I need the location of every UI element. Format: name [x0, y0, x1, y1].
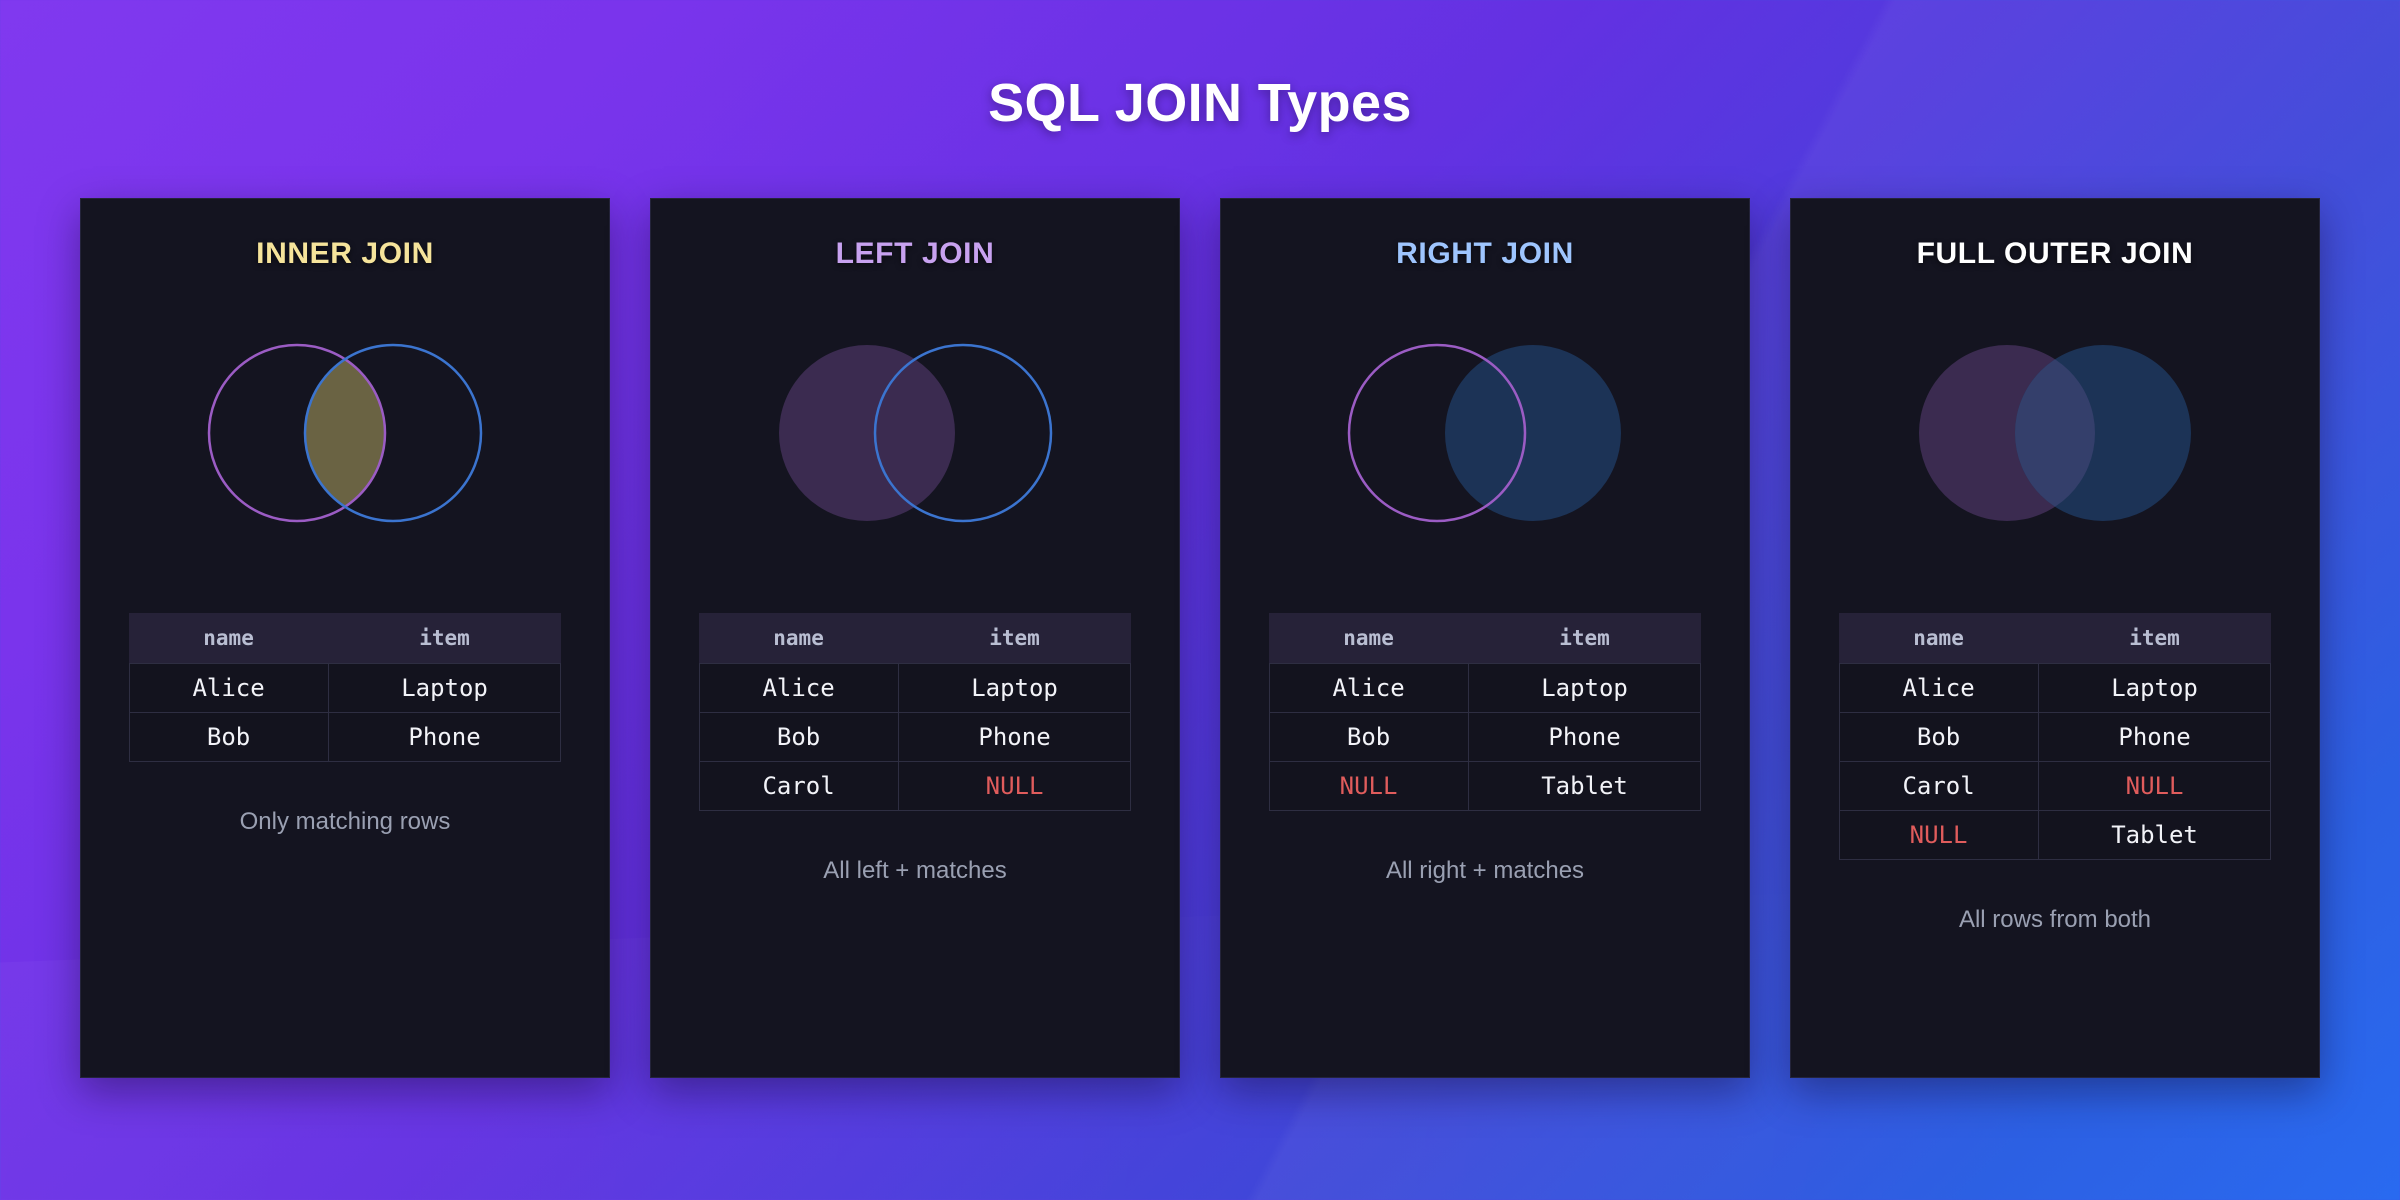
cell-item: Laptop: [898, 664, 1131, 713]
cell-name: NULL: [1269, 762, 1468, 811]
card-title-right-join: RIGHT JOIN: [1396, 237, 1574, 271]
cell-item: Phone: [1468, 713, 1701, 762]
table-row: AliceLaptop: [1839, 664, 2271, 713]
cell-item: Phone: [898, 713, 1131, 762]
column-header-name: name: [1269, 613, 1468, 664]
result-table-full-outer-join: nameitemAliceLaptopBobPhoneCarolNULLNULL…: [1839, 613, 2272, 860]
cell-name: Carol: [1839, 762, 2038, 811]
table-row: CarolNULL: [1839, 762, 2271, 811]
cell-item: Phone: [2038, 713, 2271, 762]
card-title-inner-join: INNER JOIN: [256, 237, 434, 271]
column-header-name: name: [699, 613, 898, 664]
venn-diagram-inner-join: [175, 317, 515, 549]
column-header-item: item: [898, 613, 1131, 664]
table-header-row: nameitem: [699, 613, 1131, 664]
table-row: BobPhone: [129, 713, 561, 762]
cell-item: NULL: [898, 762, 1131, 811]
cell-item: Tablet: [2038, 811, 2271, 860]
join-card-grid: INNER JOINnameitemAliceLaptopBobPhoneOnl…: [80, 198, 2320, 1078]
cell-item: Laptop: [328, 664, 561, 713]
card-caption-full-outer-join: All rows from both: [1959, 906, 2151, 934]
venn-left-circle-fill: [779, 345, 955, 521]
card-caption-right-join: All right + matches: [1386, 857, 1584, 885]
cell-item: Tablet: [1468, 762, 1701, 811]
table-row: NULLTablet: [1269, 762, 1701, 811]
table-row: CarolNULL: [699, 762, 1131, 811]
table-row: BobPhone: [699, 713, 1131, 762]
table-header-row: nameitem: [1839, 613, 2271, 664]
cell-name: Alice: [699, 664, 898, 713]
join-card-full-outer-join: FULL OUTER JOINnameitemAliceLaptopBobPho…: [1790, 198, 2320, 1078]
result-table-inner-join: nameitemAliceLaptopBobPhone: [129, 613, 562, 762]
result-table-wrap-inner-join: nameitemAliceLaptopBobPhone: [129, 613, 562, 762]
table-row: BobPhone: [1269, 713, 1701, 762]
cell-name: Alice: [129, 664, 328, 713]
cell-name: Bob: [1839, 713, 2038, 762]
cell-item: Phone: [328, 713, 561, 762]
cell-name: Alice: [1269, 664, 1468, 713]
column-header-name: name: [129, 613, 328, 664]
cell-item: NULL: [2038, 762, 2271, 811]
result-table-left-join: nameitemAliceLaptopBobPhoneCarolNULL: [699, 613, 1132, 811]
join-card-right-join: RIGHT JOINnameitemAliceLaptopBobPhoneNUL…: [1220, 198, 1750, 1078]
table-row: BobPhone: [1839, 713, 2271, 762]
cell-name: Carol: [699, 762, 898, 811]
table-row: AliceLaptop: [1269, 664, 1701, 713]
venn-diagram-left-join: [745, 317, 1085, 549]
venn-diagram-right-join: [1315, 317, 1655, 549]
table-row: NULLTablet: [1839, 811, 2271, 860]
cell-name: Bob: [129, 713, 328, 762]
venn-right-circle-fill: [1445, 345, 1621, 521]
page-title: SQL JOIN Types: [0, 72, 2400, 134]
column-header-item: item: [2038, 613, 2271, 664]
cell-item: Laptop: [1468, 664, 1701, 713]
card-title-left-join: LEFT JOIN: [836, 237, 995, 271]
result-table-wrap-full-outer-join: nameitemAliceLaptopBobPhoneCarolNULLNULL…: [1839, 613, 2272, 860]
cell-item: Laptop: [2038, 664, 2271, 713]
cell-name: Alice: [1839, 664, 2038, 713]
result-table-wrap-left-join: nameitemAliceLaptopBobPhoneCarolNULL: [699, 613, 1132, 811]
table-row: AliceLaptop: [699, 664, 1131, 713]
card-caption-left-join: All left + matches: [823, 857, 1006, 885]
cell-name: Bob: [699, 713, 898, 762]
card-caption-inner-join: Only matching rows: [240, 808, 451, 836]
column-header-name: name: [1839, 613, 2038, 664]
join-card-left-join: LEFT JOINnameitemAliceLaptopBobPhoneCaro…: [650, 198, 1180, 1078]
column-header-item: item: [1468, 613, 1701, 664]
column-header-item: item: [328, 613, 561, 664]
table-header-row: nameitem: [1269, 613, 1701, 664]
table-row: AliceLaptop: [129, 664, 561, 713]
card-title-full-outer-join: FULL OUTER JOIN: [1917, 237, 2194, 271]
join-card-inner-join: INNER JOINnameitemAliceLaptopBobPhoneOnl…: [80, 198, 610, 1078]
result-table-right-join: nameitemAliceLaptopBobPhoneNULLTablet: [1269, 613, 1702, 811]
cell-name: Bob: [1269, 713, 1468, 762]
venn-diagram-full-outer-join: [1885, 317, 2225, 549]
result-table-wrap-right-join: nameitemAliceLaptopBobPhoneNULLTablet: [1269, 613, 1702, 811]
cell-name: NULL: [1839, 811, 2038, 860]
table-header-row: nameitem: [129, 613, 561, 664]
